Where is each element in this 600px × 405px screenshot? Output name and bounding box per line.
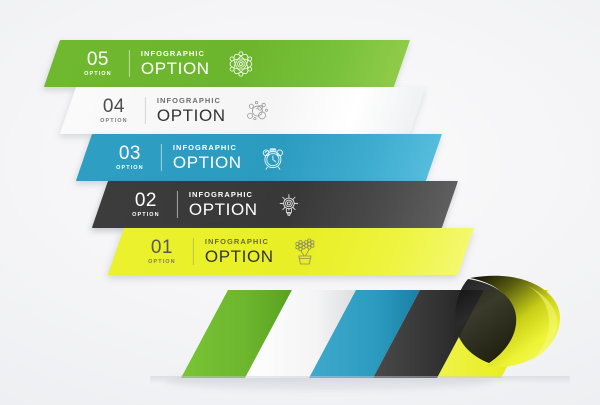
row-01-band [108,228,474,275]
option-row-01[interactable]: 01 OPTION INFOGRAPHIC OPTION [108,228,474,275]
option-rows: 05 OPTION INFOGRAPHIC OPTION [0,0,600,405]
option-row-04[interactable]: 04 OPTION INFOGRAPHIC OPTION [60,87,426,134]
row-02-band [92,181,458,228]
option-row-05[interactable]: 05 OPTION INFOGRAPHIC OPTION [44,40,410,87]
row-03-band [76,134,442,181]
option-row-03[interactable]: 03 OPTION INFOGRAPHIC OPTION [76,134,442,181]
infographic-canvas: 05 OPTION INFOGRAPHIC OPTION [0,0,600,405]
row-05-band [44,40,410,87]
option-row-02[interactable]: 02 OPTION INFOGRAPHIC OPTION [92,181,458,228]
row-04-band [60,87,426,134]
